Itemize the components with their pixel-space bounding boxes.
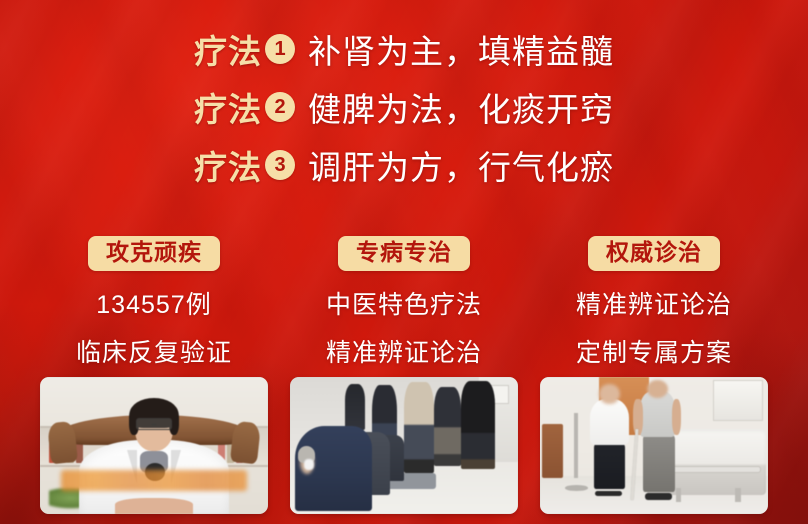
therapy-number-badge-1: 1	[265, 34, 295, 64]
therapy-number-badge-2: 2	[265, 92, 295, 122]
feature-badge-2: 专病专治	[338, 236, 470, 271]
feature-line-1-second: 临床反复验证	[76, 333, 232, 369]
doctor-interview-photo	[40, 377, 268, 514]
therapy-list: 疗法 1 补肾为主，填精益髓 疗法 2 健脾为法，化痰开窍 疗法 3 调肝为方，…	[0, 0, 808, 194]
therapy-text-3: 调肝为方，行气化瘀	[308, 141, 614, 189]
photo2-standing-person	[404, 382, 434, 472]
feature-badge-1: 攻克顽疾	[88, 236, 220, 271]
photo3-bed-leg	[676, 488, 682, 502]
therapy-line-1: 疗法 1 补肾为主，填精益髓	[0, 20, 808, 78]
feature-line-3-first: 精准辨证论治	[576, 285, 732, 321]
photo-row	[40, 377, 768, 514]
feature-badge-3: 权威诊治	[588, 236, 720, 271]
photo1-blurred-subtitle-overlay	[61, 470, 248, 491]
photo3-caregiver-head	[599, 384, 620, 405]
therapy-line-3: 疗法 3 调肝为方，行气化瘀	[0, 136, 808, 194]
patient-walking-cane-photo	[540, 377, 768, 514]
therapy-line-2: 疗法 2 健脾为法，化痰开窍	[0, 78, 808, 136]
photo2-standing-person	[434, 387, 461, 466]
therapy-tag-3: 疗法	[194, 141, 262, 189]
photo3-cabinet	[542, 424, 563, 479]
photo1-hands	[115, 498, 193, 514]
feature-line-1-first: 134557例	[96, 285, 211, 321]
hospital-waiting-area-photo	[290, 377, 518, 514]
therapy-text-1: 补肾为主，填精益髓	[308, 25, 614, 73]
photo3-patient-head	[647, 380, 668, 398]
photo2-face-mask	[304, 459, 314, 470]
photo3-bed-leg	[735, 488, 741, 502]
doctor-interview-photo-content	[40, 377, 268, 514]
photo1-glasses	[136, 418, 172, 430]
feature-column-2: 专病专治 中医特色疗法 精准辨证论治	[290, 236, 518, 369]
patient-walking-cane-photo-content	[540, 377, 768, 514]
photo3-patient-tanktop	[640, 391, 674, 438]
photo3-patient-shoes	[645, 493, 672, 500]
photo3-iv-pole-base	[565, 485, 588, 490]
photo3-iv-pole	[574, 413, 578, 479]
therapy-number-badge-3: 3	[265, 150, 295, 180]
feature-column-1: 攻克顽疾 134557例 临床反复验证	[40, 236, 268, 369]
photo2-standing-person	[345, 384, 366, 431]
photo2-seated-person-foreground	[295, 426, 373, 511]
therapy-tag-1: 疗法	[194, 25, 262, 73]
photo3-window	[713, 380, 763, 421]
promo-poster: 疗法 1 补肾为主，填精益髓 疗法 2 健脾为法，化痰开窍 疗法 3 调肝为方，…	[0, 0, 808, 524]
feature-line-2-second: 精准辨证论治	[326, 333, 482, 369]
photo3-caregiver-shoes	[595, 491, 622, 496]
photo2-standing-person	[461, 381, 495, 469]
feature-line-2-first: 中医特色疗法	[326, 285, 482, 321]
photo3-bed-rail	[661, 466, 761, 473]
photo1-chair-arm-right	[229, 421, 261, 465]
therapy-text-2: 健脾为法，化痰开窍	[308, 83, 614, 131]
photo3-caregiver-skirt	[594, 443, 626, 490]
feature-line-3-second: 定制专属方案	[576, 333, 732, 369]
feature-columns: 攻克顽疾 134557例 临床反复验证 专病专治 中医特色疗法 精准辨证论治 权…	[40, 236, 768, 369]
photo3-patient-trousers	[643, 435, 675, 493]
feature-column-3: 权威诊治 精准辨证论治 定制专属方案	[540, 236, 768, 369]
therapy-tag-2: 疗法	[194, 83, 262, 131]
photo3-patient-arm-right	[672, 399, 681, 435]
hospital-waiting-area-photo-content	[290, 377, 518, 514]
photo3-caregiver-blouse	[590, 399, 629, 446]
